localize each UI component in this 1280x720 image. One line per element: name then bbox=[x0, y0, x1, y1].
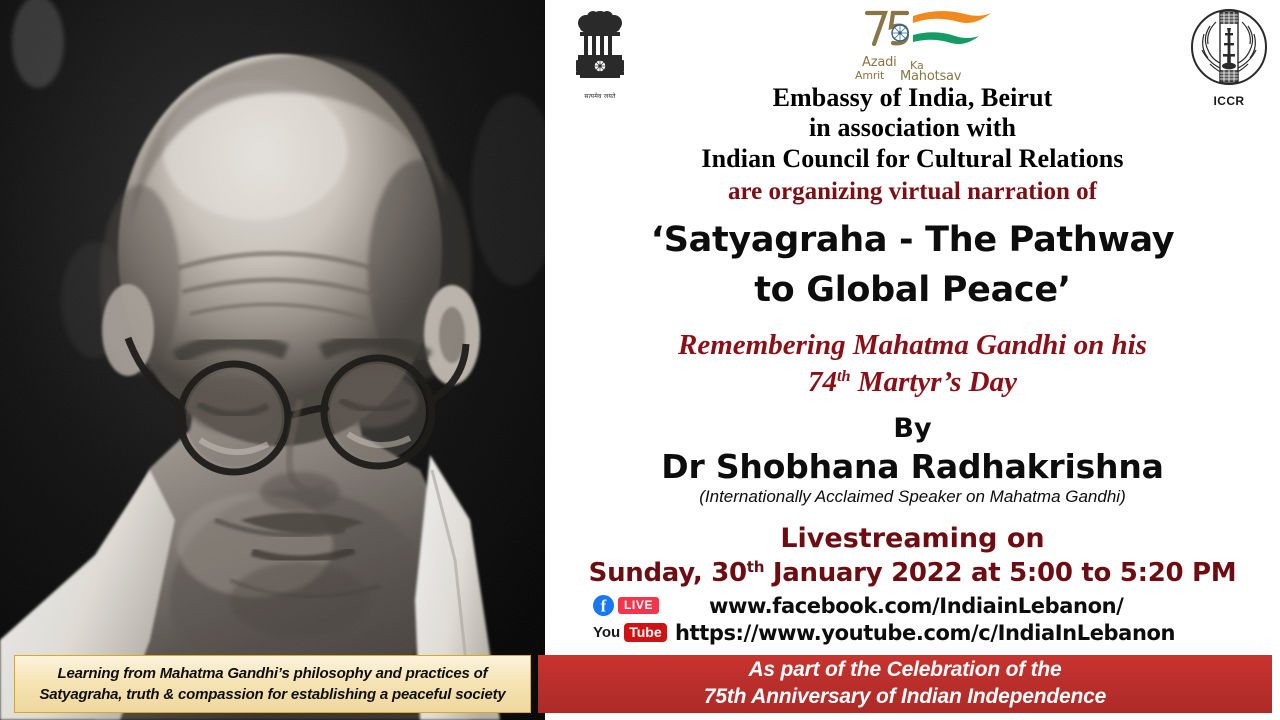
organizer-line-1: Embassy of India, Beirut bbox=[545, 83, 1280, 113]
photo-caption-box: Learning from Mahatma Gandhi’s philosoph… bbox=[14, 655, 531, 713]
date-prefix: Sunday, 30 bbox=[589, 558, 747, 588]
organizer-line-4: are organizing virtual narration of bbox=[545, 177, 1280, 206]
live-badge: LIVE bbox=[618, 597, 659, 614]
social-links: LIVE www.facebook.com/IndiainLebanon/ Yo… bbox=[593, 593, 1280, 647]
page-title: ‘Satyagraha - The Pathway to Global Peac… bbox=[545, 216, 1280, 315]
organizer-line-3: Indian Council for Cultural Relations bbox=[545, 144, 1280, 174]
celebration-banner: As part of the Celebration of the 75th A… bbox=[538, 655, 1272, 713]
photo-caption-text: Learning from Mahatma Gandhi’s philosoph… bbox=[39, 663, 505, 706]
azadi-line2: Amrit bbox=[855, 69, 884, 82]
organizers-block: Embassy of India, Beirut in association … bbox=[545, 83, 1280, 206]
caption-line-2: Satyagraha, truth & compassion for estab… bbox=[39, 684, 505, 705]
gandhi-portrait-illustration bbox=[0, 0, 545, 720]
azadi-wordmark: Azadi Ka Amrit Mahotsav bbox=[850, 55, 1000, 85]
martyr-day-ordinal: th bbox=[837, 367, 851, 385]
remembrance-line-2: 74th Martyr’s Day bbox=[545, 364, 1280, 401]
celebration-banner-text: As part of the Celebration of the 75th A… bbox=[704, 657, 1106, 711]
title-line-1: ‘Satyagraha - The Pathway bbox=[545, 216, 1280, 266]
livestream-heading: Livestreaming on bbox=[545, 523, 1280, 554]
caption-line-1: Learning from Mahatma Gandhi’s philosoph… bbox=[39, 663, 505, 684]
youtube-tube-badge: Tube bbox=[624, 623, 666, 642]
speaker-name: Dr Shobhana Radhakrishna bbox=[545, 447, 1280, 486]
gandhi-portrait-photo bbox=[0, 0, 545, 720]
remembrance-line-1: Remembering Mahatma Gandhi on his bbox=[545, 327, 1280, 364]
facebook-icon-group: LIVE bbox=[593, 595, 675, 616]
youtube-icon-group: You Tube bbox=[593, 623, 675, 642]
martyr-day-rest: Martyr’s Day bbox=[851, 366, 1017, 398]
banner-line-1: As part of the Celebration of the bbox=[704, 657, 1106, 684]
content-panel: सत्यमेव जयते bbox=[545, 0, 1280, 720]
by-label: By bbox=[545, 413, 1280, 444]
youtube-icon: You bbox=[593, 625, 620, 640]
martyr-day-number: 74 bbox=[808, 366, 837, 398]
remembrance-subtitle: Remembering Mahatma Gandhi on his 74th M… bbox=[545, 327, 1280, 401]
date-rest: January 2022 at 5:00 to 5:20 PM bbox=[764, 558, 1236, 588]
azadi-mahotsav: Mahotsav bbox=[900, 69, 961, 84]
iccr-emblem-icon bbox=[1190, 6, 1268, 88]
facebook-icon bbox=[593, 595, 614, 616]
livestream-datetime: Sunday, 30th January 2022 at 5:00 to 5:2… bbox=[545, 558, 1280, 588]
azadi-ka-amrit-mahotsav-logo: Azadi Ka Amrit Mahotsav bbox=[850, 6, 1000, 85]
facebook-url[interactable]: www.facebook.com/IndiainLebanon/ bbox=[675, 594, 1123, 618]
speaker-credential: (Internationally Acclaimed Speaker on Ma… bbox=[545, 487, 1280, 507]
date-ordinal: th bbox=[747, 558, 764, 576]
banner-line-2: 75th Anniversary of Indian Independence bbox=[704, 684, 1106, 711]
poster-root: सत्यमेव जयते bbox=[0, 0, 1280, 720]
title-line-2: to Global Peace’ bbox=[545, 266, 1280, 316]
azadi-line1: Azadi bbox=[862, 55, 897, 70]
youtube-row[interactable]: You Tube https://www.youtube.com/c/India… bbox=[593, 620, 1280, 645]
ashoka-lion-capital-icon bbox=[568, 8, 632, 88]
youtube-url[interactable]: https://www.youtube.com/c/IndiaInLebanon bbox=[675, 621, 1175, 645]
azadi-75-flag-icon bbox=[855, 6, 995, 52]
facebook-row[interactable]: LIVE www.facebook.com/IndiainLebanon/ bbox=[593, 593, 1280, 618]
organizer-line-2: in association with bbox=[545, 113, 1280, 143]
